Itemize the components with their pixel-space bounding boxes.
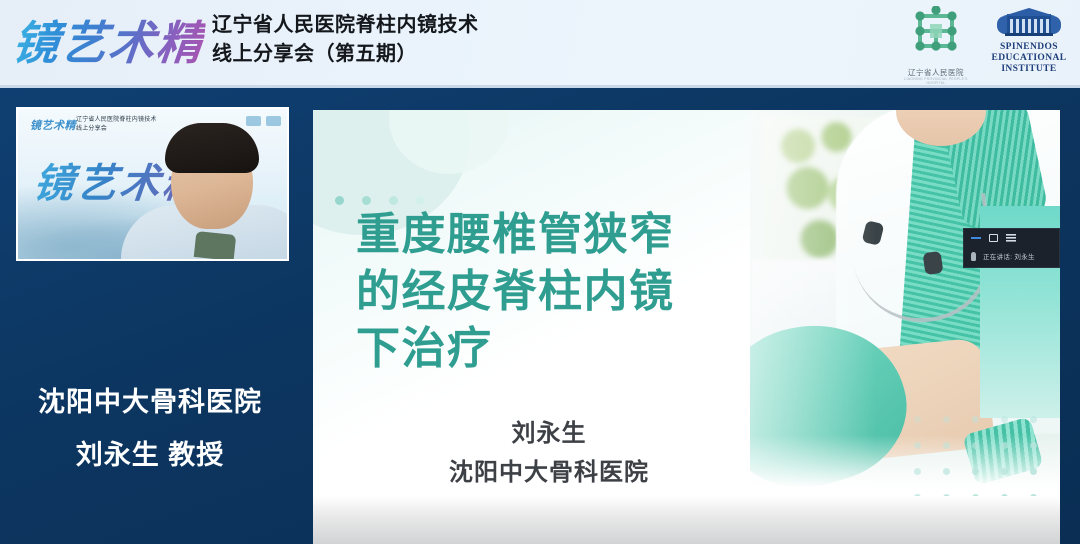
brand-logo: 镜艺术精 [10, 6, 207, 74]
slide-footer-band [313, 496, 1060, 544]
institute-logo: SPINENDOS EDUCATIONAL INSTITUTE [988, 6, 1070, 78]
page-title: 辽宁省人民医院脊柱内镜技术 线上分享会（第五期） [212, 11, 479, 69]
menu-icon[interactable] [1006, 234, 1016, 242]
hospital-logo-sublabel: LIAONING PROVINCIAL PEOPLE'S HOSPITAL [898, 77, 974, 85]
stage-area: 镜艺术精 镜艺术精 辽宁省人民医院脊柱内镜技术 线上分享会 沈阳中大骨科医院 刘… [0, 88, 1080, 544]
decor-dot-row [335, 196, 425, 205]
institute-line-2: EDUCATIONAL [988, 53, 1070, 63]
screen-root: 镜艺术精 辽宁省人民医院脊柱内镜技术 线上分享会（第五期） 辽宁省人民医院 [0, 0, 1080, 544]
institute-line-1: SPINENDOS [988, 42, 1070, 52]
presenter-figure [143, 119, 289, 259]
speaking-status-label: 正在讲话: 刘永生 [983, 251, 1035, 261]
presentation-slide[interactable]: 重度腰椎管狭窄 的经皮脊柱内镜 下治疗 刘永生 沈阳中大骨科医院 [313, 110, 1060, 544]
maximize-icon[interactable] [989, 234, 998, 242]
hospital-mark-icon [906, 6, 966, 56]
building-icon [997, 8, 1061, 40]
caption-name: 刘永生 教授 [0, 433, 300, 472]
slide-title: 重度腰椎管狭窄 的经皮脊柱内镜 下治疗 [356, 206, 756, 378]
minimize-icon[interactable] [971, 237, 981, 239]
presenter-webcam-thumbnail[interactable]: 镜艺术精 镜艺术精 辽宁省人民医院脊柱内镜技术 线上分享会 [16, 107, 289, 261]
microphone-icon [971, 252, 976, 261]
hospital-logo: 辽宁省人民医院 LIAONING PROVINCIAL PEOPLE'S HOS… [898, 6, 974, 80]
video-control-bar[interactable]: 正在讲话: 刘永生 [963, 228, 1060, 268]
slide-presenter: 刘永生 沈阳中大骨科医院 [349, 415, 749, 493]
page-header: 镜艺术精 辽宁省人民医院脊柱内镜技术 线上分享会（第五期） 辽宁省人民医院 [0, 0, 1080, 88]
caption-hospital: 沈阳中大骨科医院 [0, 380, 300, 419]
control-bar-buttons[interactable] [971, 234, 1016, 242]
speaking-indicator: 正在讲话: 刘永生 [971, 251, 1035, 261]
presenter-caption: 沈阳中大骨科医院 刘永生 教授 [0, 380, 300, 472]
institute-line-3: INSTITUTE [988, 64, 1070, 74]
webcam-overlay-logo: 镜艺术精 [30, 117, 76, 133]
